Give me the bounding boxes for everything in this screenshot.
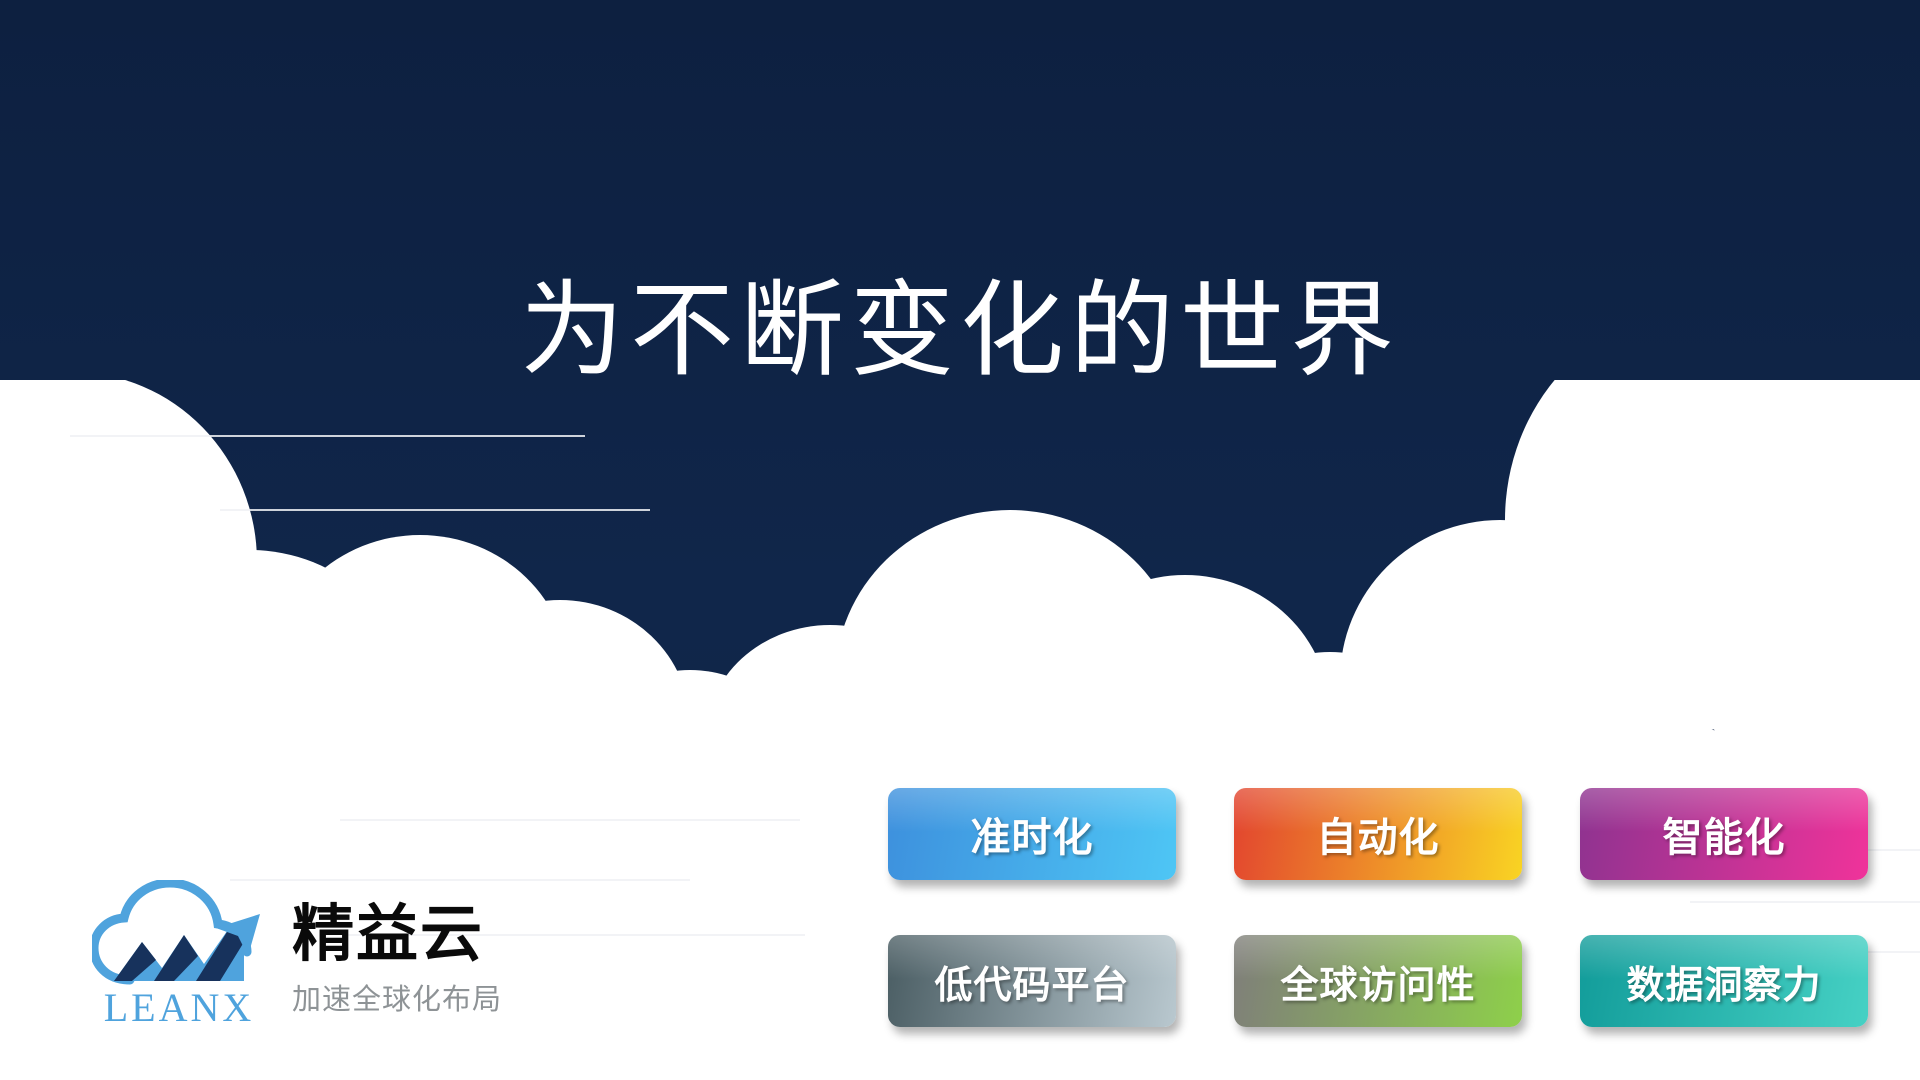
leanx-cloud-chart-arrow-icon: LEANX xyxy=(92,880,264,1040)
pill-global-access-label: 全球访问性 xyxy=(1280,954,1475,1009)
pill-data-insight-label: 数据洞察力 xyxy=(1626,954,1821,1009)
pill-global-access[interactable]: 全球访问性 xyxy=(1234,935,1522,1027)
pill-automation-label: 自动化 xyxy=(1317,805,1440,863)
pill-data-insight[interactable]: 数据洞察力 xyxy=(1580,935,1868,1027)
page-title: 为不断变化的世界 xyxy=(0,272,1920,392)
pill-intelligence[interactable]: 智能化 xyxy=(1580,788,1868,880)
brand-logo: LEANX 精益云 加速全球化布局 xyxy=(92,880,652,1040)
pill-on-time-label: 准时化 xyxy=(971,805,1094,863)
pill-automation[interactable]: 自动化 xyxy=(1234,788,1522,880)
pill-low-code-platform-label: 低代码平台 xyxy=(934,954,1129,1009)
company-tagline: 加速全球化布局 xyxy=(292,976,502,1018)
company-name: 精益云 xyxy=(292,902,502,967)
pill-on-time[interactable]: 准时化 xyxy=(888,788,1176,880)
feature-pill-grid: 准时化 自动化 智能化 低代码平台 全球访问性 数据洞察力 xyxy=(888,788,1888,1027)
logo-text-block: 精益云 加速全球化布局 xyxy=(292,902,502,1017)
pill-intelligence-label: 智能化 xyxy=(1663,805,1786,863)
pill-low-code-platform[interactable]: 低代码平台 xyxy=(888,935,1176,1027)
leanx-wordmark: LEANX xyxy=(100,988,258,1028)
slide-canvas: 为不断变化的世界 xyxy=(0,0,1920,1080)
